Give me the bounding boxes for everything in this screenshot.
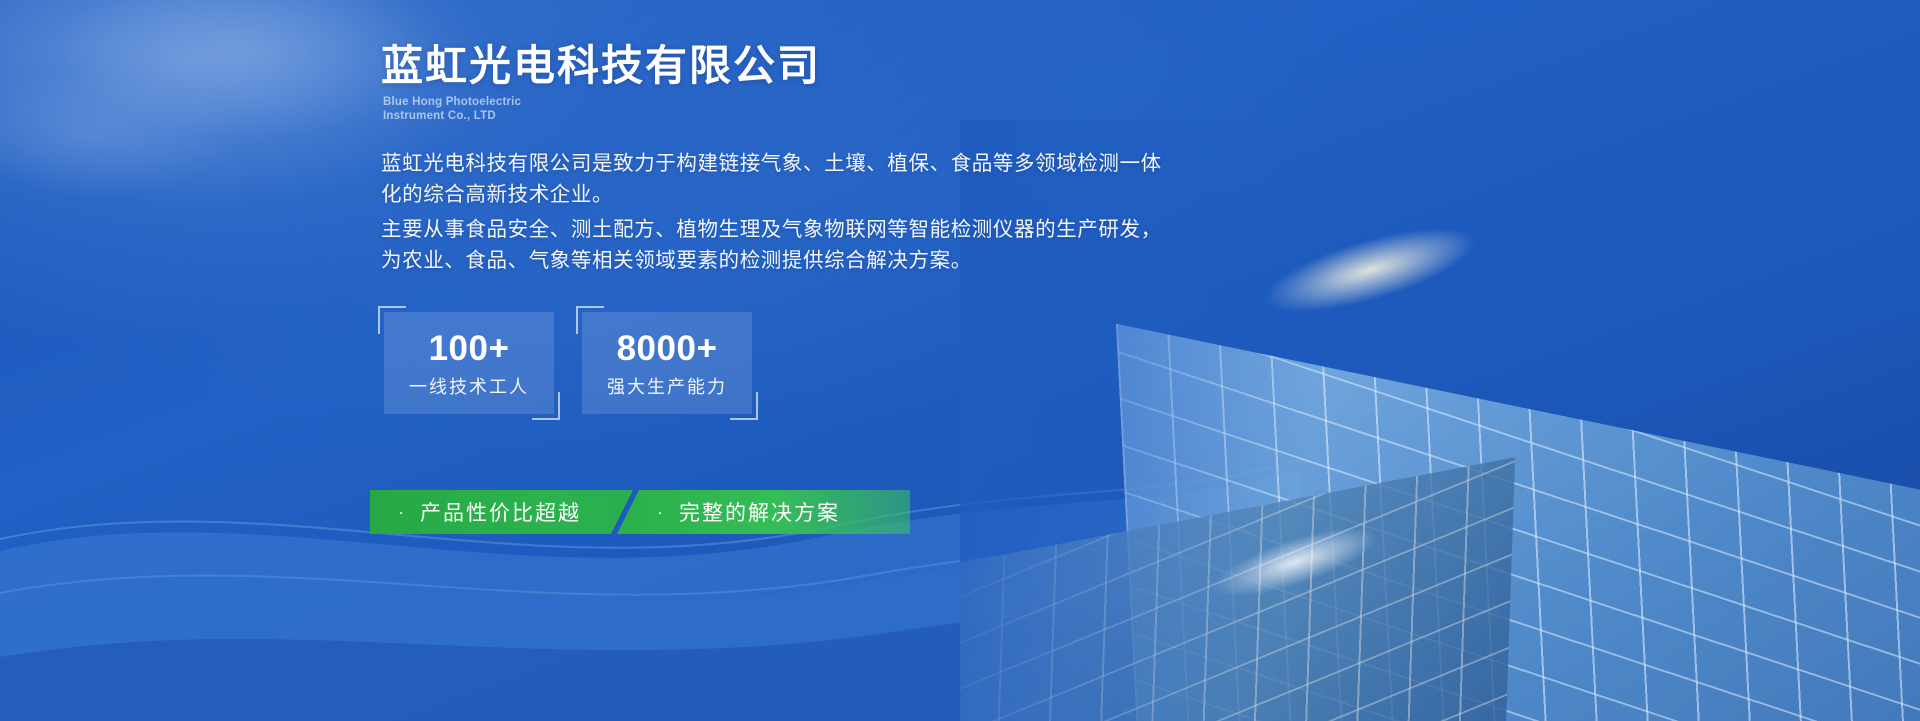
feature-tag-group: · 产品性价比超越 · 完整的解决方案 bbox=[370, 490, 910, 534]
stat-card-capacity: 8000+ 强大生产能力 bbox=[582, 312, 752, 414]
feature-tag-price-advantage[interactable]: · 产品性价比超越 bbox=[370, 490, 633, 534]
stat-number: 8000+ bbox=[617, 331, 718, 366]
description-paragraph-2: 主要从事食品安全、测土配方、植物生理及气象物联网等智能检测仪器的生产研发，为农业… bbox=[381, 214, 1181, 276]
page-title: 蓝虹光电科技有限公司 bbox=[381, 40, 821, 93]
company-subtitle: Blue Hong Photoelectric Instrument Co., … bbox=[383, 95, 521, 123]
stat-card-workers: 100+ 一线技术工人 bbox=[384, 312, 554, 414]
feature-tag-complete-solution[interactable]: · 完整的解决方案 bbox=[617, 490, 910, 534]
bullet-icon: · bbox=[657, 503, 665, 521]
feature-tag-label: 产品性价比超越 bbox=[420, 497, 581, 527]
stat-label: 强大生产能力 bbox=[607, 378, 727, 396]
stat-label: 一线技术工人 bbox=[409, 378, 529, 396]
feature-tag-label: 完整的解决方案 bbox=[679, 497, 840, 527]
subtitle-line-2: Instrument Co., LTD bbox=[383, 109, 521, 123]
subtitle-line-1: Blue Hong Photoelectric bbox=[383, 95, 521, 109]
description-paragraph-1: 蓝虹光电科技有限公司是致力于构建链接气象、土壤、植保、食品等多领域检测一体化的综… bbox=[381, 148, 1181, 210]
stat-number: 100+ bbox=[429, 331, 510, 366]
bullet-icon: · bbox=[398, 503, 406, 521]
hero-content: 蓝虹光电科技有限公司 Blue Hong Photoelectric Instr… bbox=[0, 0, 1920, 721]
stats-group: 100+ 一线技术工人 8000+ 强大生产能力 bbox=[384, 312, 752, 414]
